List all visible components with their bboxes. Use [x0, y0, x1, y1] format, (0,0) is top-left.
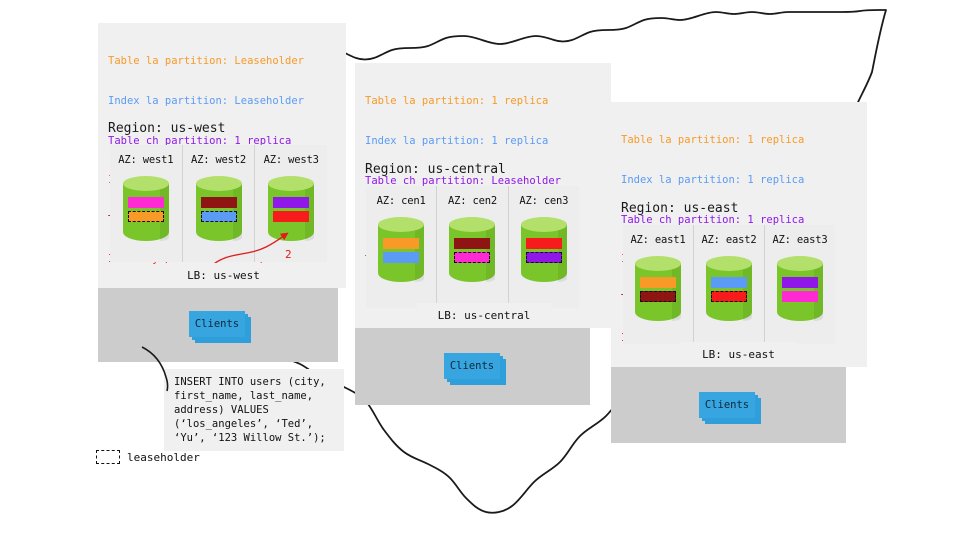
replica-band-leaseholder	[201, 211, 237, 222]
replica-band	[711, 277, 747, 288]
replica-bands	[383, 238, 419, 266]
db-cylinder-cen1[interactable]	[378, 217, 424, 289]
arrow-label-2: 2	[285, 248, 292, 261]
replica-band	[454, 238, 490, 249]
az-label: AZ: west3	[264, 154, 319, 166]
az-label: AZ: east3	[772, 234, 827, 246]
cylinder-top	[378, 217, 424, 232]
db-cylinder-east1[interactable]	[635, 256, 681, 328]
replica-band	[201, 197, 237, 208]
replica-band	[273, 197, 309, 208]
az-cell-cen1[interactable]: AZ: cen1	[366, 186, 437, 308]
cylinder-top	[123, 176, 169, 191]
az-cell-east2[interactable]: AZ: east2	[694, 225, 765, 344]
az-cell-cen2[interactable]: AZ: cen2	[437, 186, 508, 308]
az-label: AZ: west2	[191, 154, 246, 166]
db-cylinder-cen2[interactable]	[449, 217, 495, 289]
lb-box-us-east[interactable]: LB: us-east	[679, 342, 798, 367]
cylinder-top	[777, 256, 823, 271]
clients-button-label: Clients	[189, 311, 245, 337]
az-label: AZ: cen1	[377, 195, 426, 207]
replica-band	[640, 277, 676, 288]
cylinder-top	[196, 176, 242, 191]
partition-row: Table la partition: 1 replica	[365, 95, 601, 108]
replica-band-leaseholder	[128, 211, 164, 222]
partition-row: Index la partition: 1 replica	[621, 174, 857, 187]
az-cell-cen3[interactable]: AZ: cen3	[509, 186, 579, 308]
replica-bands	[640, 277, 676, 305]
az-strip-us-east: AZ: east1 AZ: east2 AZ: east3	[623, 225, 835, 344]
cylinder-top	[706, 256, 752, 271]
az-cell-east1[interactable]: AZ: east1	[623, 225, 694, 344]
replica-band	[128, 197, 164, 208]
replica-band-leaseholder	[454, 252, 490, 263]
replica-bands	[201, 197, 237, 225]
az-label: AZ: cen3	[519, 195, 568, 207]
partition-row: Index la partition: 1 replica	[365, 135, 601, 148]
lb-box-us-west[interactable]: LB: us-west	[163, 263, 284, 288]
replica-bands	[454, 238, 490, 266]
clients-button-us-west[interactable]: Clients	[189, 311, 245, 337]
partition-row: Table la partition: Leaseholder	[108, 55, 336, 68]
region-title-us-west: Region: us-west	[108, 121, 225, 136]
cylinder-top	[521, 217, 567, 232]
clients-button-label: Clients	[699, 392, 755, 418]
az-strip-us-central: AZ: cen1 AZ: cen2 AZ: cen3	[366, 186, 579, 308]
az-cell-east3[interactable]: AZ: east3	[765, 225, 835, 344]
clients-button-us-central[interactable]: Clients	[444, 353, 500, 379]
db-cylinder-cen3[interactable]	[521, 217, 567, 289]
replica-bands	[526, 238, 562, 266]
lb-box-us-central[interactable]: LB: us-central	[417, 303, 551, 328]
replica-band-leaseholder	[526, 252, 562, 263]
replica-band-leaseholder	[640, 291, 676, 302]
replica-band	[526, 238, 562, 249]
cylinder-top	[268, 176, 314, 191]
partition-row: Index la partition: Leaseholder	[108, 95, 336, 108]
leaseholder-key-label: leaseholder	[127, 451, 200, 464]
az-label: AZ: east2	[701, 234, 756, 246]
replica-bands	[782, 277, 818, 305]
replica-bands	[273, 197, 309, 225]
az-label: AZ: west1	[118, 154, 173, 166]
db-cylinder-east3[interactable]	[777, 256, 823, 328]
clients-button-label: Clients	[444, 353, 500, 379]
az-label: AZ: cen2	[448, 195, 497, 207]
leaseholder-swatch-icon	[96, 450, 120, 464]
partition-row: Table la partition: 1 replica	[621, 134, 857, 147]
replica-band	[383, 252, 419, 263]
sql-callout: INSERT INTO users (city, first_name, las…	[164, 369, 344, 451]
replica-band	[273, 211, 309, 222]
leaseholder-key: leaseholder	[96, 450, 200, 464]
az-label: AZ: east1	[630, 234, 685, 246]
replica-band	[782, 277, 818, 288]
region-title-us-east: Region: us-east	[621, 201, 738, 216]
replica-band	[383, 238, 419, 249]
replica-band-leaseholder	[711, 291, 747, 302]
db-cylinder-east2[interactable]	[706, 256, 752, 328]
clients-button-us-east[interactable]: Clients	[699, 392, 755, 418]
region-title-us-central: Region: us-central	[365, 162, 506, 177]
replica-band	[782, 291, 818, 302]
cylinder-top	[635, 256, 681, 271]
replica-bands	[128, 197, 164, 225]
replica-bands	[711, 277, 747, 305]
sql-callout-leader	[140, 345, 180, 393]
